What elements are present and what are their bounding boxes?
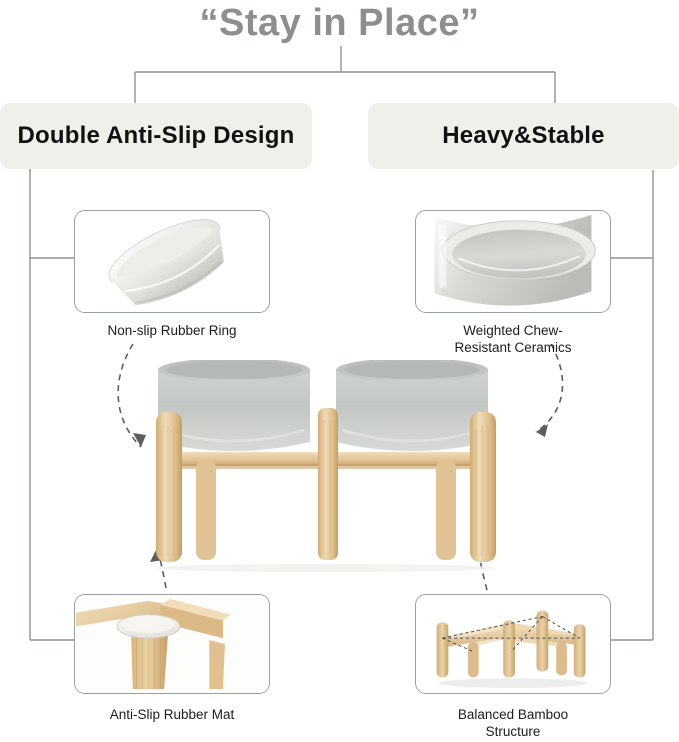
caption-line-1: Weighted Chew- [463,323,563,338]
leg-front-left [156,412,182,562]
caption-anti-slip-rubber-mat: Anti-Slip Rubber Mat [54,706,290,723]
category-box-heavy-stable[interactable]: Heavy&Stable [368,103,679,169]
feature-panel-weighted-ceramics[interactable] [415,210,611,313]
elevated-double-bowl-stand [140,360,540,575]
caption-non-slip-rubber-ring: Non-slip Rubber Ring [54,322,290,339]
leg-front-right [470,412,496,562]
feature-panel-non-slip-rubber-ring[interactable] [74,210,270,313]
feature-panel-anti-slip-rubber-mat[interactable] [74,594,270,694]
caption-line-2: Resistant Ceramics [454,340,571,355]
arrow-path-top-left [118,344,141,447]
bamboo-leg-rubber-pad-image [75,595,269,693]
bowl-interior-image [416,211,610,312]
page-title: “Stay in Place” [0,2,679,45]
infographic-root: “Stay in Place” [0,0,679,742]
category-label: Heavy&Stable [442,122,604,150]
leg-back-right [436,460,456,560]
caption-line-2: Structure [486,724,541,739]
hero-product-image [140,360,540,575]
tilted-bowl-image [75,211,269,312]
feature-panel-balanced-bamboo-structure[interactable] [415,594,611,694]
caption-balanced-bamboo-structure: Balanced Bamboo Structure [395,706,631,740]
caption-line-1: Balanced Bamboo [458,707,568,722]
right-bowl [336,360,488,451]
leg-center [318,408,338,560]
leg-back-left [196,460,216,560]
category-label: Double Anti-Slip Design [17,122,294,150]
caption-weighted-ceramics: Weighted Chew- Resistant Ceramics [395,322,631,356]
bamboo-structure-image [416,595,610,693]
category-box-double-anti-slip[interactable]: Double Anti-Slip Design [0,103,312,169]
